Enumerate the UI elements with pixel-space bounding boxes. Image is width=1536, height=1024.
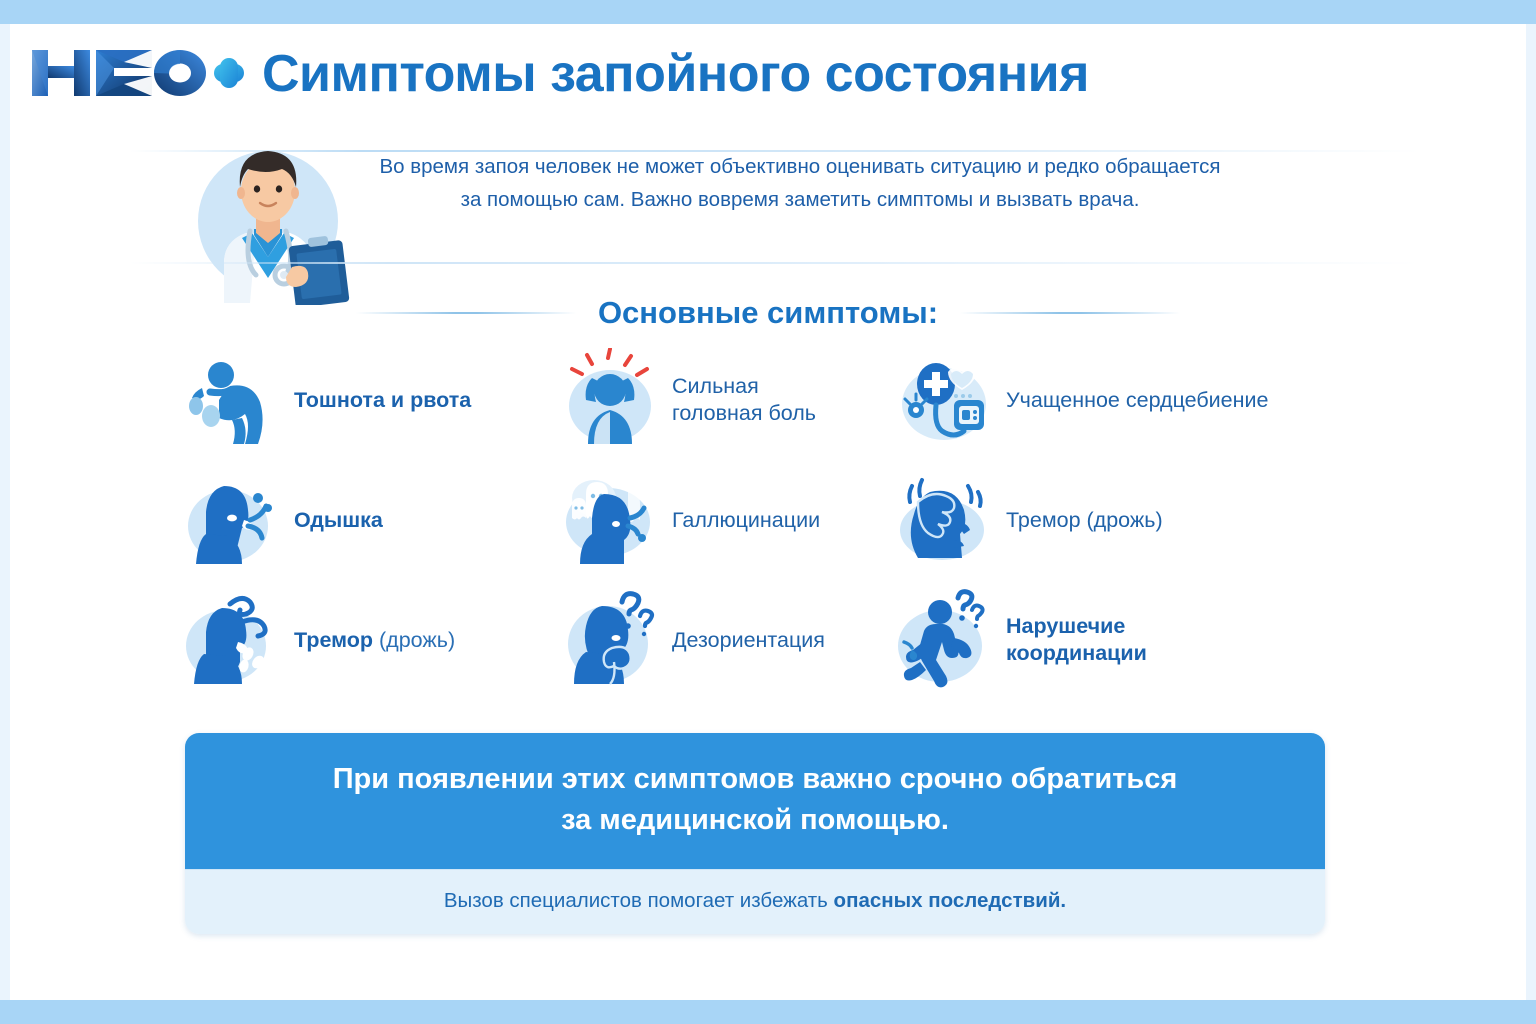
heading-rule-left	[356, 312, 576, 314]
callout-line-2: за медицинской помощью.	[225, 800, 1285, 841]
callout-footer-text: Вызов специалистов помогает избежать опа…	[444, 889, 1066, 912]
brand-logo	[28, 42, 246, 104]
symptom-item-hallucinations: Галлюцинации	[558, 465, 898, 575]
symptom-label-main: Тремор	[294, 628, 373, 652]
symptom-item-dyspnea: Одышка	[180, 465, 560, 575]
symptom-label: Одышка	[294, 507, 383, 534]
symptom-label: Дезориентация	[672, 627, 825, 654]
callout-footer-emphasis: опасных последствий.	[834, 889, 1067, 912]
callout-footer: Вызов специалистов помогает избежать опа…	[185, 869, 1325, 934]
symptom-row-3: Тремор (дрожь)	[180, 585, 1340, 695]
symptom-label: Сильная головная боль	[672, 373, 816, 426]
symptom-label-line-1: Сильная	[672, 374, 759, 398]
headache-person-icon	[558, 348, 662, 452]
symptom-item-nausea: Тошнота и рвота	[180, 345, 560, 455]
blood-pressure-monitor-icon	[892, 348, 996, 452]
symptom-item-tachycardia: Учащенное сердцебиение	[892, 345, 1340, 455]
intro-line-2: за помощью сам. Важно вовремя заметить с…	[320, 183, 1280, 216]
symptom-label: Нарушечие координации	[1006, 613, 1147, 666]
vomiting-person-icon	[180, 348, 284, 452]
shortness-of-breath-icon	[180, 468, 284, 572]
symptom-item-disorientation: Дезориентация	[558, 585, 898, 695]
section-heading-label: Основные симптомы:	[598, 295, 938, 331]
symptom-item-coordination: Нарушечие координации	[892, 585, 1340, 695]
hallucination-ghost-icon	[558, 468, 662, 572]
intro-divider	[130, 262, 1420, 264]
symptom-row-2: Одышка	[180, 465, 1340, 575]
disorientation-thinking-icon	[558, 588, 662, 692]
callout-box: При появлении этих симптомов важно срочн…	[185, 733, 1325, 934]
callout-main: При появлении этих симптомов важно срочн…	[185, 733, 1325, 869]
intro-paragraph: Во время запоя человек не может объектив…	[320, 150, 1280, 216]
symptom-label: Тремор (дрожь)	[294, 627, 455, 654]
coordination-loss-walking-icon	[892, 588, 996, 692]
heading-rule-right	[960, 312, 1180, 314]
page-title: Симптомы запойного состояния	[262, 48, 1089, 100]
symptom-label-line-2: головная боль	[672, 401, 816, 425]
top-decorative-band	[0, 0, 1536, 24]
section-heading: Основные симптомы:	[0, 288, 1536, 338]
symptom-label-line-1: Нарушечие	[1006, 614, 1125, 638]
symptom-item-headache: Сильная головная боль	[558, 345, 898, 455]
neo-plus-logo-icon	[28, 42, 246, 104]
symptom-label-extra: (дрожь)	[379, 628, 455, 652]
symptom-item-tremor-head: Тремор (дрожь)	[892, 465, 1340, 575]
symptom-label: Галлюцинации	[672, 507, 820, 534]
symptom-grid: Тошнота и рвота Сильная г	[180, 345, 1340, 695]
symptom-row-1: Тошнота и рвота Сильная г	[180, 345, 1340, 455]
bottom-decorative-band	[0, 1000, 1536, 1024]
header: Симптомы запойного состояния	[0, 24, 1536, 124]
symptom-item-tremor-sweat: Тремор (дрожь)	[180, 585, 560, 695]
symptom-label: Тошнота и рвота	[294, 387, 471, 414]
infographic-page: Симптомы запойного состояния	[0, 0, 1536, 1024]
symptom-label-line-2: координации	[1006, 641, 1147, 665]
tremor-sweating-person-icon	[180, 588, 284, 692]
trembling-head-hands-icon	[892, 468, 996, 572]
callout-line-1: При появлении этих симптомов важно срочн…	[225, 759, 1285, 800]
intro-line-1: Во время запоя человек не может объектив…	[320, 150, 1280, 183]
symptom-label: Тремор (дрожь)	[1006, 507, 1163, 534]
intro-section: Во время запоя человек не может объектив…	[0, 130, 1536, 270]
callout-footer-prefix: Вызов специалистов помогает избежать	[444, 889, 834, 912]
symptom-label: Учащенное сердцебиение	[1006, 387, 1268, 414]
